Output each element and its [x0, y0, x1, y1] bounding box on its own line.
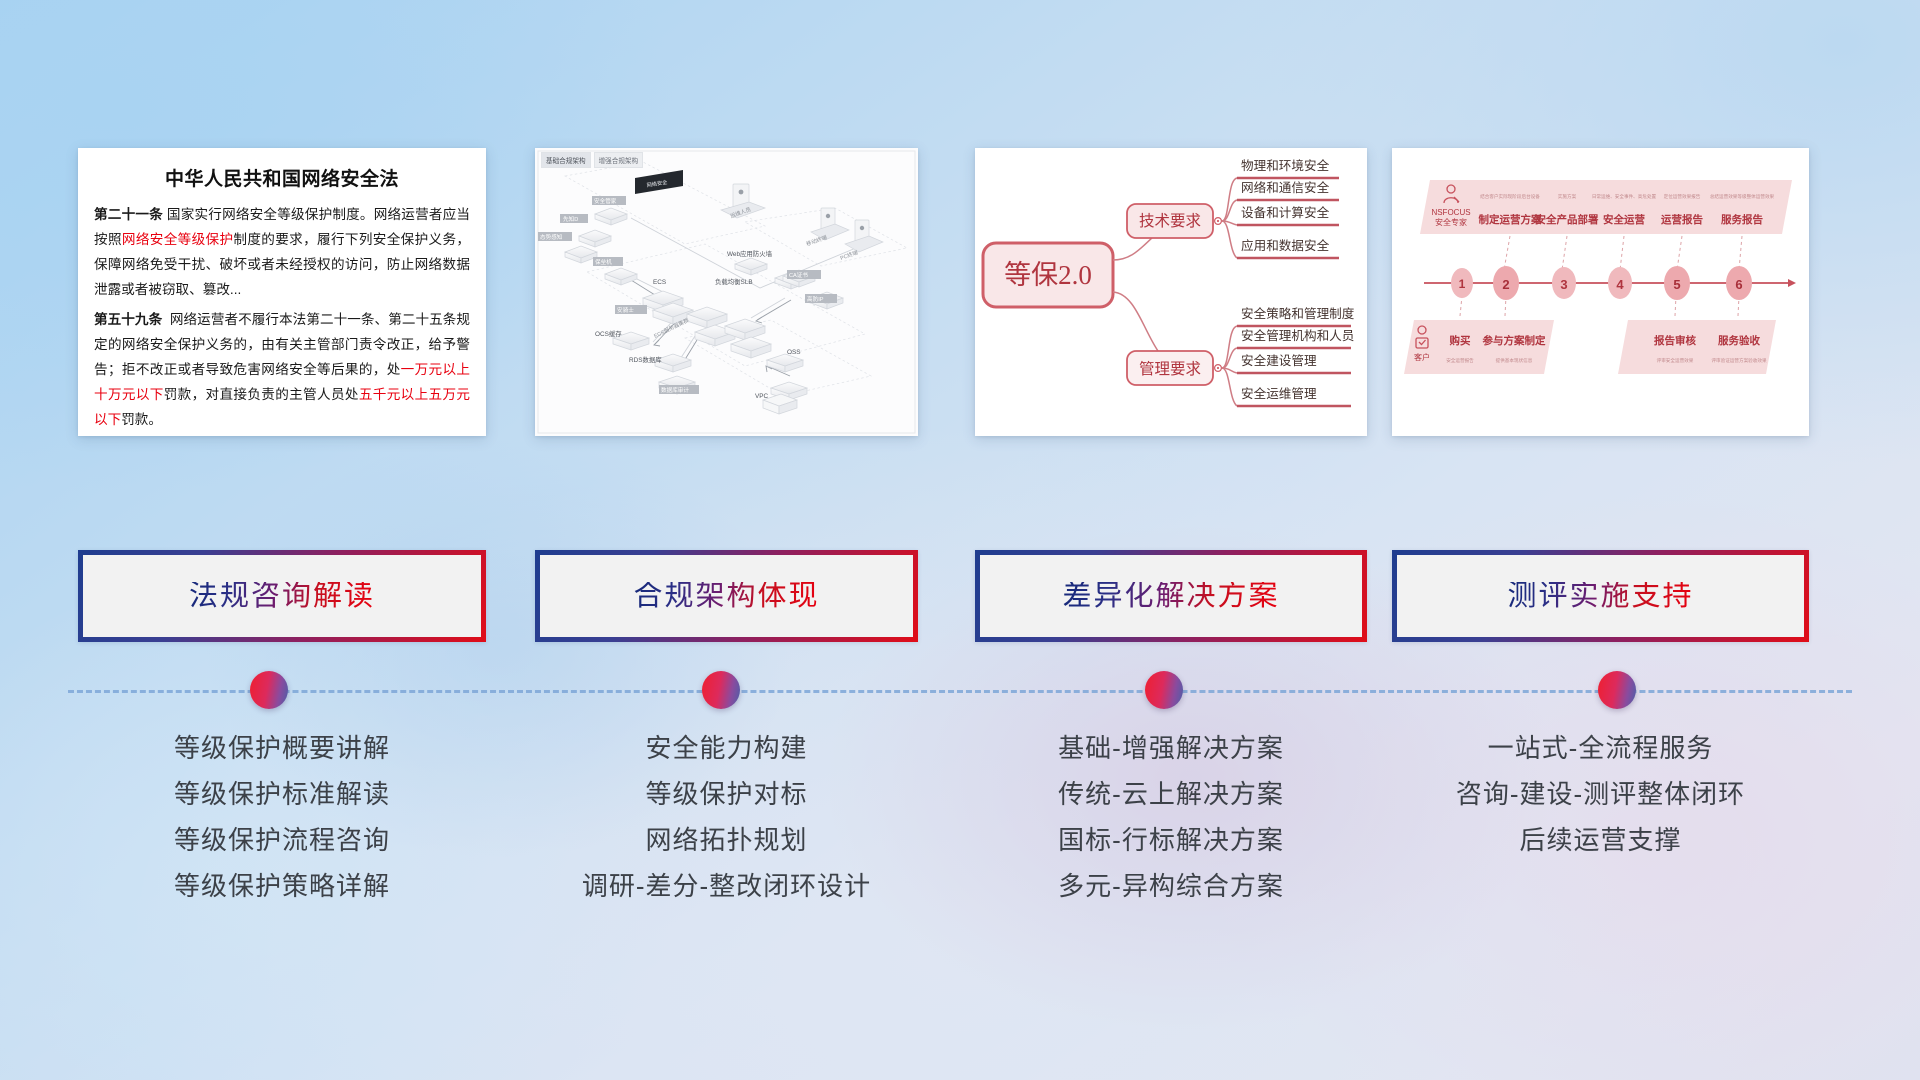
law-article-21: 第二十一条 国家实行网络安全等级保护制度。网络运营者应当按照网络安全等级保护制度…	[94, 202, 470, 303]
pillar-label: 法规咨询解读	[189, 582, 375, 611]
flow-marker: 5	[1673, 277, 1680, 292]
flow-marker: 6	[1735, 277, 1742, 292]
tab-enhanced-architecture[interactable]: 增强合规架构	[594, 152, 644, 168]
mindmap: 等保2.0 技术要求	[975, 148, 1367, 436]
flow-bottom-title: 服务验收	[1718, 334, 1760, 347]
svg-text:保垒机: 保垒机	[595, 258, 612, 266]
list-item: 后续运营支撑	[1392, 818, 1809, 864]
article-59-text-c: 罚款。	[121, 412, 162, 427]
mindmap-leaf: 安全策略和管理制度	[1241, 306, 1355, 321]
mindmap-root-label: 等保2.0	[1004, 260, 1092, 290]
article-21-highlight: 网络安全等级保护	[122, 232, 234, 247]
list-item: 调研-差分-整改闭环设计	[535, 864, 918, 910]
timeline-connector	[0, 690, 1920, 692]
svg-text:RDS数据库: RDS数据库	[629, 355, 662, 364]
svg-text:Web应用防火墙: Web应用防火墙	[727, 249, 773, 258]
card-cloud-architecture: 基础合规架构 增强合规架构	[535, 148, 918, 436]
list-item: 等级保护对标	[535, 772, 918, 818]
card-law-excerpt: 中华人民共和国网络安全法 第二十一条 国家实行网络安全等级保护制度。网络运营者应…	[78, 148, 486, 436]
list-item: 传统-云上解决方案	[975, 772, 1367, 818]
flow-bottom-sub: 评审验证运营方案验收效果	[1711, 357, 1767, 364]
nsfocus-label-line2: 安全专家	[1435, 217, 1467, 227]
mindmap-branch-mgmt-leaves: 安全策略和管理制度 安全管理机构和人员 安全建设管理 安全运维管理	[1237, 306, 1355, 406]
list-item: 等级保护标准解读	[78, 772, 486, 818]
pillar-regulation-consulting[interactable]: 法规咨询解读	[78, 550, 486, 642]
list-item: 咨询-建设-测评整体闭环	[1392, 772, 1809, 818]
flow-bottom-sub: 安全运营报告	[1446, 357, 1474, 364]
detail-list-regulation: 等级保护概要讲解 等级保护标准解读 等级保护流程咨询 等级保护策略详解	[78, 726, 486, 910]
pillar-differentiated-solution[interactable]: 差异化解决方案	[975, 550, 1367, 642]
article-59-label: 第五十九条	[94, 312, 162, 327]
mindmap-svg: 等保2.0 技术要求	[975, 148, 1367, 436]
flow-bottom-sub: 提供基本现状信息	[1496, 357, 1533, 364]
detail-lists: 等级保护概要讲解 等级保护标准解读 等级保护流程咨询 等级保护策略详解 安全能力…	[0, 726, 1920, 966]
flow-marker: 2	[1502, 277, 1509, 292]
flow-top-sub: 日常运维、安全事件、高危处置	[1592, 193, 1657, 200]
svg-text:高防IP: 高防IP	[807, 295, 824, 303]
mindmap-leaf: 网络和通信安全	[1241, 180, 1330, 195]
flow-top-sub: 总结运营效果等级整体运营效果	[1710, 193, 1775, 200]
architecture-svg: 网络安全	[535, 148, 918, 436]
svg-text:OCS缓存: OCS缓存	[595, 329, 622, 338]
flow-marker: 4	[1616, 277, 1624, 292]
card-row: 中华人民共和国网络安全法 第二十一条 国家实行网络安全等级保护制度。网络运营者应…	[0, 148, 1920, 448]
service-flow-svg: NSFOCUS 安全专家 客户 制定运营方案 结合客户实际现阶段后台设备 安全产…	[1392, 148, 1809, 436]
pillar-label: 合规架构体现	[633, 582, 819, 611]
card-service-flow: NSFOCUS 安全专家 客户 制定运营方案 结合客户实际现阶段后台设备 安全产…	[1392, 148, 1809, 436]
flow-top-title: 安全产品部署	[1536, 213, 1599, 226]
law-body: 中华人民共和国网络安全法 第二十一条 国家实行网络安全等级保护制度。网络运营者应…	[78, 148, 486, 436]
service-flow: NSFOCUS 安全专家 客户 制定运营方案 结合客户实际现阶段后台设备 安全产…	[1392, 148, 1809, 436]
flow-top-sub: 定位运营效果报告	[1664, 193, 1701, 200]
list-item: 等级保护策略详解	[78, 864, 486, 910]
timeline-dot-4	[1598, 671, 1636, 709]
pillar-label: 测评实施支持	[1507, 582, 1693, 611]
flow-bottom-title: 参与方案制定	[1483, 334, 1546, 347]
architecture-tabs: 基础合规架构 增强合规架构	[541, 152, 643, 168]
law-title: 中华人民共和国网络安全法	[94, 164, 470, 191]
architecture-banner: 网络安全	[635, 170, 683, 194]
mindmap-branch-mgmt: 管理要求	[1127, 351, 1221, 385]
article-21-label: 第二十一条	[94, 207, 163, 222]
flow-top-title: 安全运营	[1603, 213, 1645, 226]
list-item: 一站式-全流程服务	[1392, 726, 1809, 772]
mindmap-leaf: 设备和计算安全	[1241, 205, 1330, 220]
nsfocus-label-line1: NSFOCUS	[1431, 208, 1470, 217]
detail-list-architecture: 安全能力构建 等级保护对标 网络拓扑规划 调研-差分-整改闭环设计	[535, 726, 918, 910]
pillar-label: 差异化解决方案	[1062, 582, 1279, 611]
list-item: 网络拓扑规划	[535, 818, 918, 864]
svg-text:VPC: VPC	[755, 393, 769, 400]
list-item: 国标-行标解决方案	[975, 818, 1367, 864]
pillar-assessment-support[interactable]: 测评实施支持	[1392, 550, 1809, 642]
timeline-dashed-line	[68, 690, 1852, 693]
list-item: 等级保护概要讲解	[78, 726, 486, 772]
mindmap-branch-mgmt-label: 管理要求	[1139, 360, 1201, 378]
list-item: 安全能力构建	[535, 726, 918, 772]
flow-top-title: 服务报告	[1721, 213, 1763, 226]
mindmap-leaf: 安全管理机构和人员	[1241, 328, 1354, 343]
detail-list-assessment: 一站式-全流程服务 咨询-建设-测评整体闭环 后续运营支撑	[1392, 726, 1809, 864]
timeline-dot-3	[1145, 671, 1183, 709]
mindmap-leaf: 物理和环境安全	[1241, 158, 1330, 173]
list-item: 基础-增强解决方案	[975, 726, 1367, 772]
svg-text:安全管家: 安全管家	[594, 197, 617, 205]
detail-list-solution: 基础-增强解决方案 传统-云上解决方案 国标-行标解决方案 多元-异构综合方案	[975, 726, 1367, 910]
svg-text:态势感知: 态势感知	[540, 233, 563, 241]
flow-top-title: 运营报告	[1661, 213, 1703, 226]
pillar-row: 法规咨询解读 合规架构体现 差异化解决方案 测评实施支持	[0, 550, 1920, 642]
card-mindmap: 等保2.0 技术要求	[975, 148, 1367, 436]
timeline-dot-2	[702, 671, 740, 709]
mindmap-leaf: 安全运维管理	[1241, 386, 1317, 401]
svg-text:CA证书: CA证书	[789, 271, 808, 279]
mindmap-branch-tech-leaves: 物理和环境安全 网络和通信安全 设备和计算安全 应用和数据安全	[1237, 158, 1339, 258]
svg-text:ECS: ECS	[653, 279, 666, 286]
list-item: 等级保护流程咨询	[78, 818, 486, 864]
customer-label: 客户	[1414, 352, 1430, 362]
svg-text:先知D: 先知D	[563, 215, 578, 223]
flow-top-sub: 实施方案	[1558, 193, 1577, 200]
flow-bottom-title: 报告审核	[1654, 334, 1696, 347]
mindmap-leaf: 安全建设管理	[1241, 353, 1317, 368]
list-item: 多元-异构综合方案	[975, 864, 1367, 910]
flow-bottom-title: 购买	[1450, 334, 1472, 347]
svg-text:安骑士: 安骑士	[617, 306, 634, 314]
svg-text:OSS: OSS	[787, 349, 801, 356]
law-article-59: 第五十九条 网络运营者不履行本法第二十一条、第二十五条规定的网络安全保护义务的，…	[94, 307, 470, 433]
flow-bottom-sub: 评审安全运营效果	[1657, 357, 1694, 364]
mindmap-branch-tech-label: 技术要求	[1139, 212, 1201, 230]
mindmap-branch-tech: 技术要求	[1127, 204, 1221, 238]
flow-axis-arrow	[1788, 279, 1796, 287]
pillar-compliance-architecture[interactable]: 合规架构体现	[535, 550, 918, 642]
svg-text:负载均衡SLB: 负载均衡SLB	[715, 277, 753, 286]
mindmap-root: 等保2.0	[983, 243, 1113, 307]
flow-marker: 3	[1560, 277, 1567, 292]
flow-top-sub: 结合客户实际现阶段后台设备	[1480, 193, 1540, 200]
flow-top-title: 制定运营方案	[1479, 213, 1542, 226]
flow-marker: 1	[1459, 277, 1466, 291]
mindmap-leaf: 应用和数据安全	[1241, 238, 1330, 253]
tab-basic-architecture[interactable]: 基础合规架构	[541, 152, 591, 168]
article-59-text-b: 罚款，对直接负责的主管人员处	[164, 387, 359, 402]
svg-text:数据库审计: 数据库审计	[661, 386, 689, 394]
timeline-dot-1	[250, 671, 288, 709]
architecture-diagram: 基础合规架构 增强合规架构	[535, 148, 918, 436]
